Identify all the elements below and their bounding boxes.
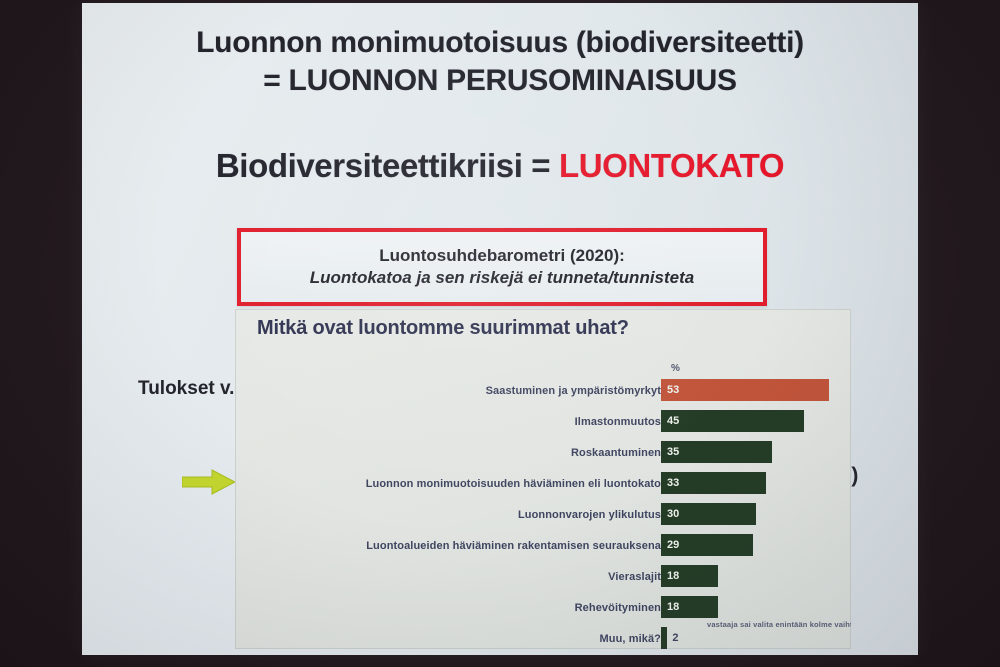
- chart-bar-value: 29: [667, 539, 679, 551]
- chart-bar-row: Luontoalueiden häviäminen rakentamisen s…: [235, 530, 851, 561]
- chart-bar-label: Vieraslajit: [331, 571, 661, 583]
- right-arrow-icon: [182, 469, 236, 495]
- projection-room: Luonnon monimuotoisuus (biodiversiteetti…: [0, 0, 1000, 667]
- chart-bar-value: 33: [667, 477, 679, 489]
- chart-bar-row: Luonnonvarojen ylikulutus30: [235, 499, 851, 530]
- chart-bar-fill: [661, 627, 667, 649]
- chart-bar-label: Rehevöityminen: [331, 602, 661, 614]
- chart-bar-label: Roskaantuminen: [331, 447, 661, 459]
- chart-bar-fill: [661, 410, 804, 432]
- chart-bar-value: 53: [667, 384, 679, 396]
- chart-title: Mitkä ovat luontomme suurimmat uhat?: [257, 317, 629, 340]
- chart-bar-label: Luonnon monimuotoisuuden häviäminen eli …: [331, 478, 661, 490]
- presentation-slide: Luonnon monimuotoisuus (biodiversiteetti…: [82, 3, 918, 655]
- chart-bar-track: 53: [661, 379, 851, 401]
- survey-chart-panel: Mitkä ovat luontomme suurimmat uhat? % S…: [235, 309, 851, 649]
- callout-line-2: Luontokatoa ja sen riskejä ei tunneta/tu…: [310, 268, 694, 288]
- chart-bar-label: Luonnonvarojen ylikulutus: [331, 509, 661, 521]
- chart-bar-row: Ilmastonmuutos45: [235, 406, 851, 437]
- chart-bar-track: 29: [661, 534, 851, 556]
- slide-subtitle-prefix: Biodiversiteettikriisi =: [216, 147, 559, 184]
- chart-bar-row: Saastuminen ja ympäristömyrkyt53: [235, 375, 851, 406]
- chart-unit-label: %: [671, 363, 680, 374]
- chart-bar-label: Saastuminen ja ympäristömyrkyt: [331, 385, 661, 397]
- chart-bar-track: 18: [661, 596, 851, 618]
- chart-bars: Saastuminen ja ympäristömyrkyt53Ilmaston…: [235, 375, 851, 649]
- callout-box: Luontosuhdebarometri (2020): Luontokatoa…: [237, 228, 767, 306]
- chart-bar-track: 2: [661, 627, 851, 649]
- chart-bar-value: 2: [672, 632, 678, 644]
- callout-line-1: Luontosuhdebarometri (2020):: [379, 246, 625, 266]
- chart-bar-track: 35: [661, 441, 851, 463]
- chart-bar-row: Luonnon monimuotoisuuden häviäminen eli …: [235, 468, 851, 499]
- chart-bar-row: Roskaantuminen35: [235, 437, 851, 468]
- chart-bar-row: Rehevöityminen18: [235, 592, 851, 623]
- chart-bar-track: 30: [661, 503, 851, 525]
- chart-bar-fill: [661, 379, 829, 401]
- chart-footnote: vastaaja sai valita enintään kolme vaiht…: [707, 620, 851, 629]
- chart-bar-value: 35: [667, 446, 679, 458]
- slide-title-line-2: = LUONNON PERUSOMINAISUUS: [82, 63, 918, 98]
- chart-bar-track: 45: [661, 410, 851, 432]
- chart-bar-row: Vieraslajit18: [235, 561, 851, 592]
- chart-bar-value: 30: [667, 508, 679, 520]
- chart-bar-value: 18: [667, 570, 679, 582]
- chart-bar-value: 45: [667, 415, 679, 427]
- chart-bar-track: 33: [661, 472, 851, 494]
- chart-bar-label: Ilmastonmuutos: [331, 416, 661, 428]
- slide-subtitle-accent: LUONTOKATO: [559, 147, 784, 184]
- slide-title-line-1: Luonnon monimuotoisuus (biodiversiteetti…: [82, 25, 918, 60]
- slide-subtitle: Biodiversiteettikriisi = LUONTOKATO: [82, 147, 918, 185]
- chart-bar-track: 18: [661, 565, 851, 587]
- chart-bar-label: Muu, mikä?: [331, 633, 661, 645]
- chart-bar-label: Luontoalueiden häviäminen rakentamisen s…: [331, 540, 661, 552]
- chart-bar-value: 18: [667, 601, 679, 613]
